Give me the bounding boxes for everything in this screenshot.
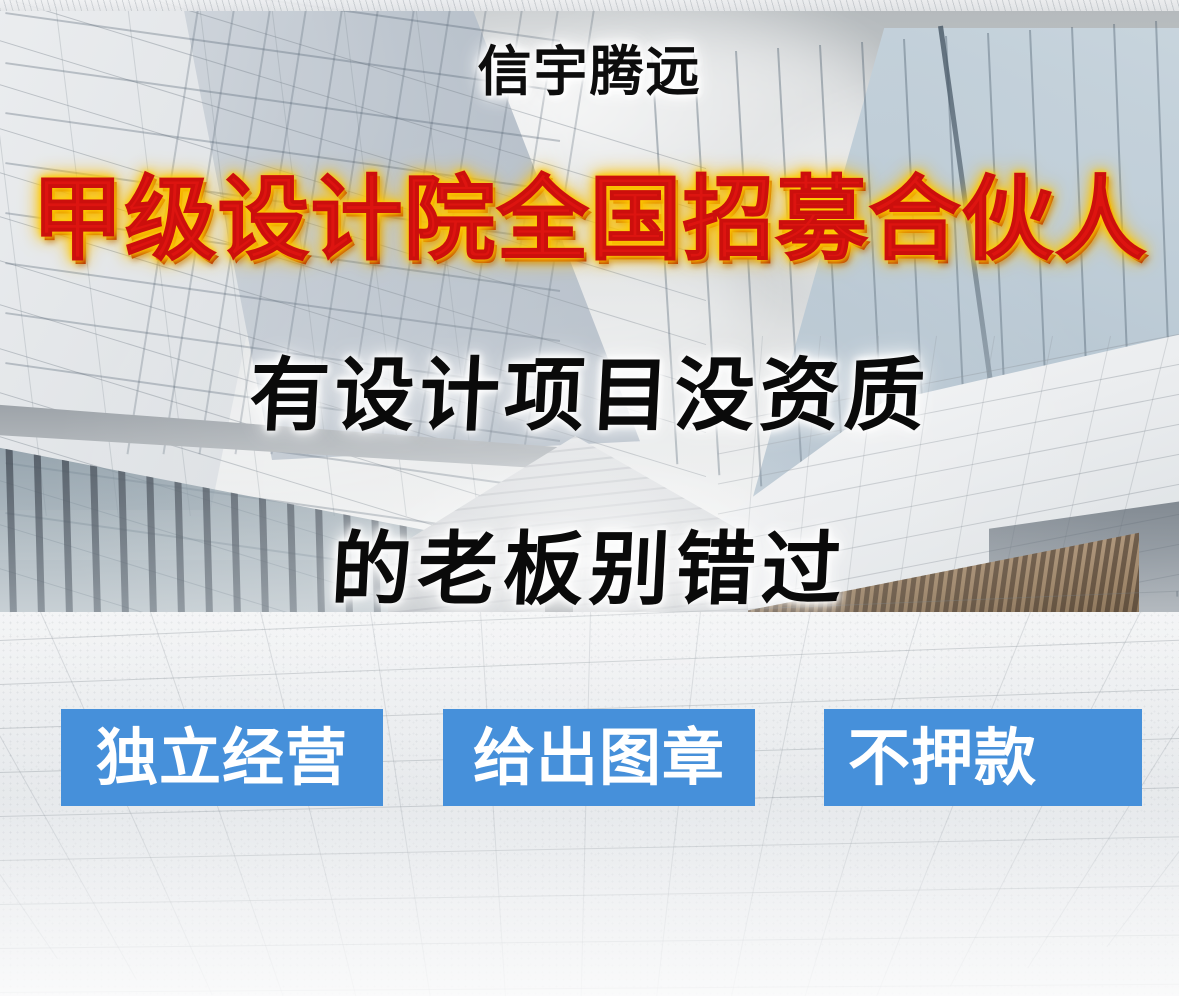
main-headline: 甲级设计院全国招募合伙人 <box>0 174 1179 266</box>
subheadline-line-1: 有设计项目没资质 <box>0 356 1179 436</box>
feature-badge-stamped-drawings: 给出图章 <box>443 709 755 806</box>
pavement-reflection-sheen <box>0 796 1179 996</box>
feature-badge-row: 独立经营 给出图章 不押款 <box>0 709 1179 809</box>
feature-badge-label: 独立经营 <box>96 727 348 789</box>
subheadline-line-2: 的老板别错过 <box>0 530 1179 610</box>
top-edge-strip <box>0 0 1179 11</box>
feature-badge-no-deposit: 不押款 <box>824 709 1142 806</box>
feature-badge-independent-operation: 独立经营 <box>61 709 383 806</box>
promotional-poster: 信宇腾远 甲级设计院全国招募合伙人 有设计项目没资质 的老板别错过 独立经营 给… <box>0 0 1179 996</box>
background-architecture-photo <box>0 0 1179 996</box>
brand-title: 信宇腾远 <box>0 44 1179 98</box>
feature-badge-label: 给出图章 <box>473 727 725 789</box>
feature-badge-label: 不押款 <box>848 727 1037 789</box>
